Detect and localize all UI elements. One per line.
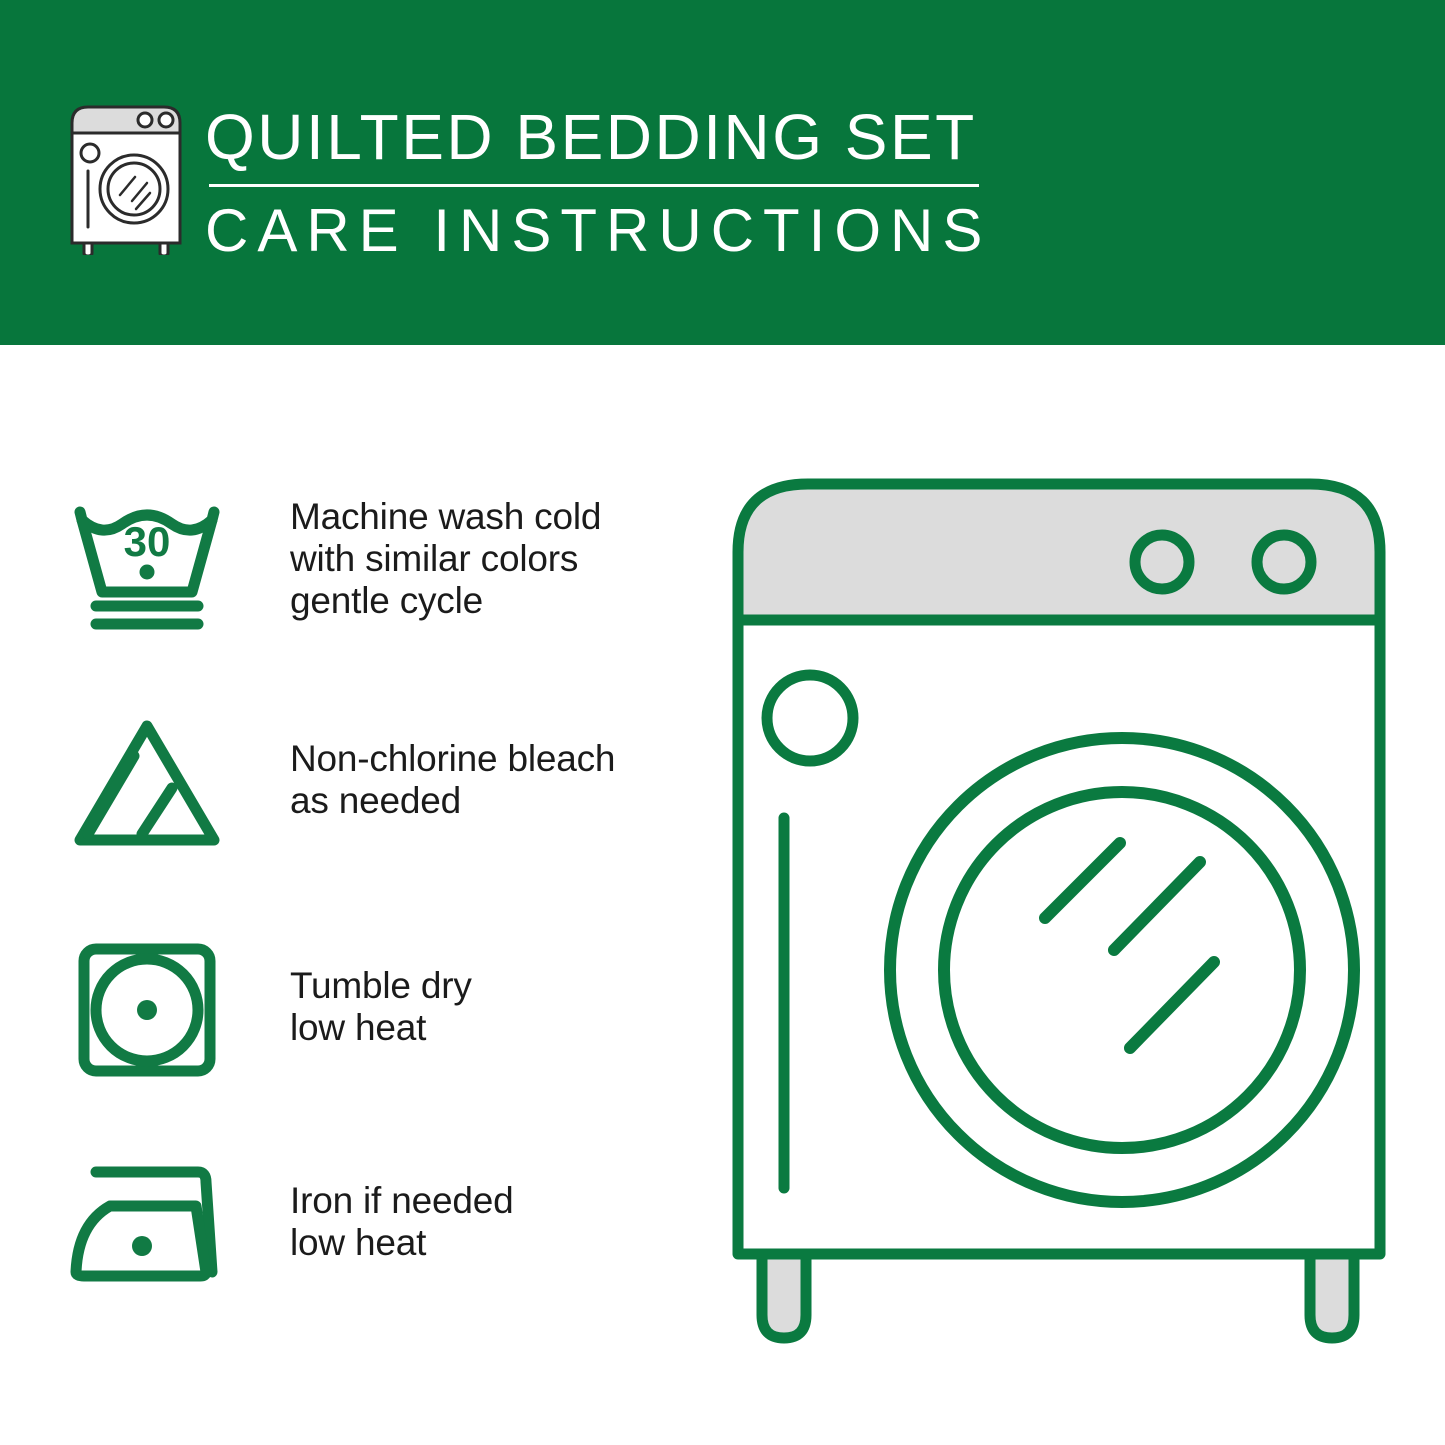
care-line: low heat	[290, 1222, 702, 1264]
header-text-block: QUILTED BEDDING SET CARE INSTRUCTIONS	[205, 100, 1305, 267]
tumble-dry-icon	[62, 935, 232, 1085]
care-label-machine-wash: Machine wash cold with similar colors ge…	[232, 490, 702, 622]
washing-machine-illustration	[722, 470, 1412, 1370]
care-instruction-list: 30 Machine wash cold with similar colors…	[0, 345, 720, 1445]
care-line: Machine wash cold	[290, 496, 702, 538]
wash-tub-30-icon: 30	[62, 490, 232, 640]
care-line: as needed	[290, 780, 702, 822]
care-row-machine-wash: 30 Machine wash cold with similar colors…	[62, 490, 702, 640]
iron-heat-dot-icon	[132, 1236, 152, 1256]
care-row-tumble-dry: Tumble dry low heat	[62, 935, 702, 1085]
page-title: QUILTED BEDDING SET	[205, 100, 1305, 174]
wash-temperature-label: 30	[124, 518, 171, 565]
care-label-iron: Iron if needed low heat	[232, 1150, 702, 1264]
washing-machine-logo-icon	[62, 103, 190, 255]
bleach-triangle-icon	[62, 710, 232, 860]
care-instructions-page: QUILTED BEDDING SET CARE INSTRUCTIONS 30	[0, 0, 1445, 1445]
control-knob-1	[1135, 535, 1189, 589]
control-knob-2	[1257, 535, 1311, 589]
care-line: with similar colors	[290, 538, 702, 580]
page-subtitle: CARE INSTRUCTIONS	[205, 195, 1305, 267]
care-line: low heat	[290, 1007, 702, 1049]
header-banner: QUILTED BEDDING SET CARE INSTRUCTIONS	[0, 0, 1445, 345]
care-row-bleach: Non-chlorine bleach as needed	[62, 710, 702, 860]
care-line: Non-chlorine bleach	[290, 738, 702, 780]
dry-heat-dot-icon	[137, 1000, 157, 1020]
wash-dot-icon	[140, 565, 155, 580]
care-label-bleach: Non-chlorine bleach as needed	[232, 710, 702, 822]
title-divider	[209, 184, 979, 187]
care-line: Tumble dry	[290, 965, 702, 1007]
indicator-ring	[767, 675, 853, 761]
care-line: gentle cycle	[290, 580, 702, 622]
care-line: Iron if needed	[290, 1180, 702, 1222]
care-row-iron: Iron if needed low heat	[62, 1150, 702, 1300]
iron-icon	[62, 1150, 232, 1300]
care-label-tumble-dry: Tumble dry low heat	[232, 935, 702, 1049]
